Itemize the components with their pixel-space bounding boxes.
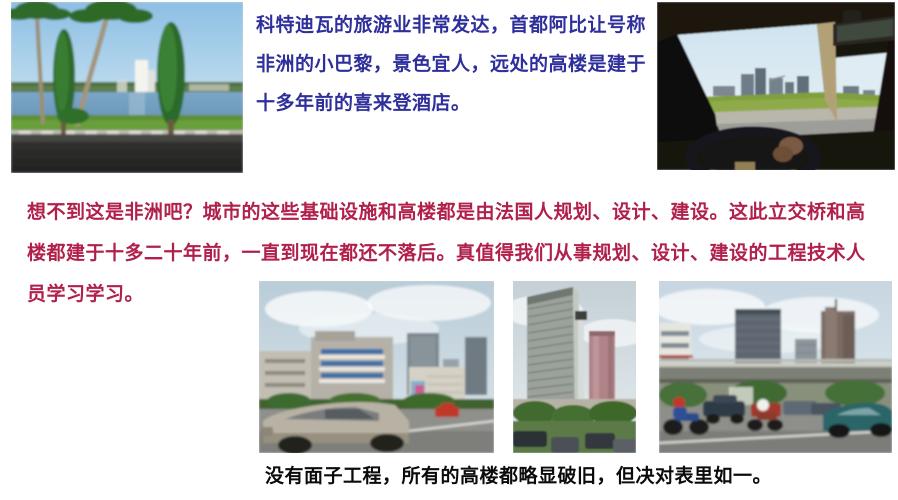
paragraph-top: 科特迪瓦的旅游业非常发达，首都阿比让号称非洲的小巴黎，景色宜人，远处的高楼是建于…	[256, 6, 646, 123]
photo-lagoon-palms	[11, 2, 243, 173]
photo-grey-highrise-tower	[513, 281, 636, 453]
photo-car-windshield-skyline	[657, 2, 895, 170]
document-page: 科特迪瓦的旅游业非常发达，首都阿比让号称非洲的小巴黎，景色宜人，远处的高楼是建于…	[0, 0, 898, 500]
photo-street-with-silver-car	[259, 281, 494, 453]
paragraph-bottom: 没有面子工程，所有的高楼都略显破旧，但决对表里如一。	[265, 462, 885, 490]
photo-overpass-traffic	[659, 281, 892, 453]
